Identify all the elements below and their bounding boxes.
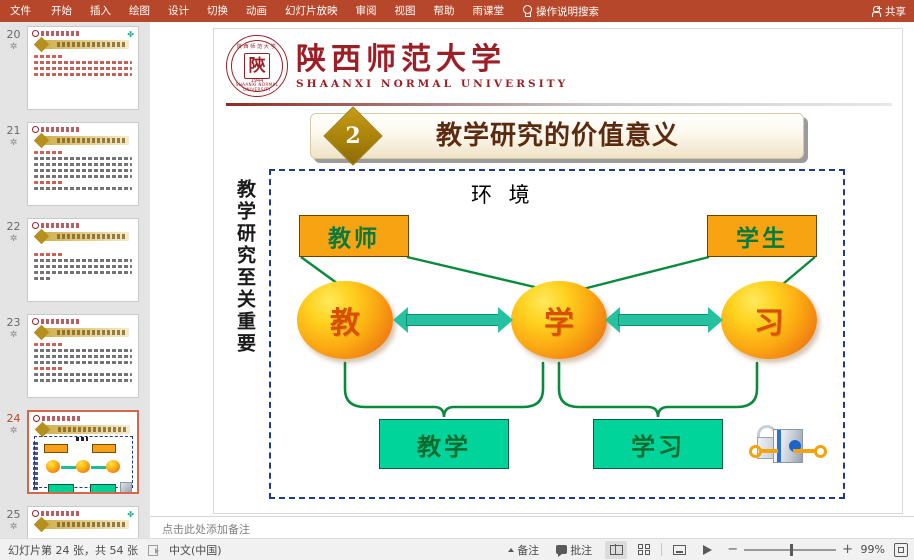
tab-transitions[interactable]: 切换 (198, 0, 237, 22)
star-icon: ✲ (10, 43, 18, 52)
environment-label: 环 境 (471, 179, 535, 209)
page-title: 教学研究的价值意义 (436, 113, 679, 159)
clover-icon: ✤ (127, 510, 134, 519)
tab-help[interactable]: 帮助 (425, 0, 464, 22)
clover-icon: ✤ (127, 30, 134, 39)
slide-counter[interactable]: 幻灯片第 24 张，共 54 张 (8, 542, 138, 558)
mini-university-name (42, 416, 80, 421)
seal-bottom-text: SHAANXI NORMAL UNIVERSITY (227, 82, 287, 92)
mini-body-text (34, 343, 132, 385)
mini-university-name (41, 511, 79, 516)
thumbnail-slide-23[interactable]: 23 ✲ (0, 314, 150, 406)
notes-button-label: 备注 (517, 542, 539, 558)
tab-review[interactable]: 审阅 (347, 0, 386, 22)
mini-university-name (41, 223, 79, 228)
star-icon: ✲ (10, 331, 18, 340)
powerpoint-window: 文件 开始 插入 绘图 设计 切换 动画 幻灯片放映 审阅 视图 帮助 雨课堂 … (0, 0, 914, 560)
thumbnail-meta: 25 ✲ (0, 506, 27, 538)
status-right-group: 备注 批注 − + 99% (504, 540, 914, 560)
star-icon: ✲ (10, 139, 18, 148)
xuexi-box[interactable]: 学习 (593, 419, 723, 469)
mini-environment-label (76, 437, 88, 441)
comment-icon (556, 545, 567, 554)
thumbnail-preview[interactable]: ✤ (27, 26, 139, 110)
slide-thumbnail-pane[interactable]: 20 ✲ ✤ (0, 22, 150, 538)
mini-vertical-caption (33, 442, 38, 494)
lock-and-key-icon (753, 421, 815, 469)
language-indicator[interactable]: 中文(中国) (169, 542, 222, 558)
mini-body-text (34, 55, 132, 79)
tell-me-search[interactable]: 操作说明搜索 (521, 4, 599, 19)
workspace: 20 ✲ ✤ (0, 22, 914, 538)
ribbon-tab-bar: 文件 开始 插入 绘图 设计 切换 动画 幻灯片放映 审阅 视图 帮助 雨课堂 … (0, 0, 914, 22)
sphere-jiao-label: 教 (330, 298, 360, 342)
university-names: 陕西师范大学 SHAANXI NORMAL UNIVERSITY (296, 43, 568, 90)
tab-design[interactable]: 设计 (159, 0, 198, 22)
tab-rain-classroom[interactable]: 雨课堂 (464, 0, 514, 22)
star-icon: ✲ (10, 427, 18, 436)
tab-insert[interactable]: 插入 (81, 0, 120, 22)
view-normal[interactable] (605, 541, 627, 559)
university-logo-header: 陕西师范大学 陝 1944 SHAANXI NORMAL UNIVERSITY … (226, 35, 568, 97)
star-icon: ✲ (10, 523, 18, 532)
seal-top-text: 陕西师范大学 (227, 43, 287, 50)
view-reading[interactable] (668, 541, 690, 559)
teaching-diagram[interactable]: 环 境 (269, 169, 845, 499)
tab-slideshow[interactable]: 幻灯片放映 (276, 0, 347, 22)
lightbulb-icon (521, 5, 532, 18)
mini-university-name (41, 127, 79, 132)
thumbnail-slide-20[interactable]: 20 ✲ ✤ (0, 26, 150, 118)
mini-xuexi-box (90, 484, 116, 494)
mini-university-logo (33, 415, 80, 422)
tell-me-label: 操作说明搜索 (536, 4, 599, 19)
mini-title-banner (41, 520, 129, 529)
thumbnail-slide-22[interactable]: 22 ✲ (0, 218, 150, 310)
university-seal-icon: 陕西师范大学 陝 1944 SHAANXI NORMAL UNIVERSITY (226, 35, 288, 97)
tab-view[interactable]: 视图 (386, 0, 425, 22)
thumbnail-number: 21 (7, 125, 21, 137)
tab-draw[interactable]: 绘图 (120, 0, 159, 22)
tab-home[interactable]: 开始 (42, 0, 81, 22)
thumbnail-preview[interactable] (27, 122, 139, 206)
comments-button-label: 批注 (570, 542, 592, 558)
mini-arrow-1 (61, 466, 76, 469)
view-slideshow[interactable] (696, 541, 718, 559)
thumbnail-meta: 21 ✲ (0, 122, 27, 214)
sphere-jiao[interactable]: 教 (297, 281, 393, 359)
thumbnail-slide-25[interactable]: 25 ✲ ✤ (0, 506, 150, 538)
sphere-xue[interactable]: 学 (511, 281, 607, 359)
mini-title-banner (41, 232, 129, 241)
thumbnail-slide-24[interactable]: 24 ✲ (0, 410, 150, 502)
mini-seal-icon (32, 30, 39, 37)
thumbnail-preview-selected[interactable] (27, 410, 139, 494)
slide-editor-pane: 陕西师范大学 陝 1944 SHAANXI NORMAL UNIVERSITY … (150, 22, 914, 538)
header-divider-rule (226, 103, 892, 106)
zoom-slider[interactable] (744, 549, 836, 551)
double-arrow-jiao-xue (393, 307, 513, 333)
share-label: 共享 (885, 4, 906, 19)
notes-placeholder: 点击此处添加备注 (162, 521, 250, 537)
mini-lock-icon (120, 482, 132, 493)
mini-seal-icon (32, 318, 39, 325)
seal-character: 陝 (244, 53, 270, 79)
zoom-level[interactable]: 99% (859, 543, 885, 556)
thumbnail-number: 24 (7, 413, 21, 425)
zoom-control[interactable]: − + 99% (727, 543, 885, 556)
thumbnail-number: 22 (7, 221, 21, 233)
vertical-caption: 教学研究至关重要 (226, 179, 260, 355)
view-slide-sorter[interactable] (633, 541, 655, 559)
ribbon-tabs: 文件 开始 插入 绘图 设计 切换 动画 幻灯片放映 审阅 视图 帮助 雨课堂 (0, 0, 513, 22)
mini-university-logo (32, 126, 79, 133)
mini-body-text (34, 253, 132, 283)
mini-body-text (34, 151, 132, 193)
thumbnail-preview[interactable]: ✤ (27, 506, 139, 538)
zoom-slider-thumb[interactable] (790, 544, 793, 556)
sphere-xue-label: 学 (544, 298, 574, 342)
university-name-cn: 陕西师范大学 (296, 43, 568, 77)
notes-button[interactable]: 备注 (504, 540, 543, 560)
thumbnail-number: 25 (7, 509, 21, 521)
share-button[interactable]: 共享 (871, 0, 906, 22)
thumbnail-preview[interactable] (27, 314, 139, 398)
mini-sphere-xue (76, 460, 90, 473)
mini-sphere-xi (106, 460, 120, 473)
student-box[interactable]: 学生 (707, 215, 817, 257)
mini-seal-icon (32, 126, 39, 133)
comments-button[interactable]: 批注 (552, 540, 596, 560)
tab-animations[interactable]: 动画 (237, 0, 276, 22)
status-separator (661, 543, 662, 556)
mini-title-banner (41, 40, 129, 49)
mini-title-banner (41, 136, 129, 145)
fit-slide-to-window-icon[interactable] (894, 543, 908, 557)
mini-title-banner (42, 425, 130, 434)
mini-diagram (34, 436, 133, 488)
thumbnail-preview[interactable] (27, 218, 139, 302)
zoom-in-button[interactable]: + (842, 544, 853, 555)
sphere-xi-label: 习 (754, 298, 784, 342)
view-mode-buttons (605, 541, 718, 559)
star-icon: ✲ (10, 235, 18, 244)
mini-seal-icon (33, 415, 40, 422)
sphere-xi[interactable]: 习 (721, 281, 817, 359)
mini-arrow-2 (91, 466, 106, 469)
caret-up-icon (508, 548, 514, 552)
mini-university-logo (32, 222, 79, 229)
thumbnail-meta: 20 ✲ (0, 26, 27, 118)
mini-university-logo (32, 30, 79, 37)
tab-file[interactable]: 文件 (0, 0, 42, 22)
mini-title-banner (41, 328, 129, 337)
teacher-box[interactable]: 教师 (299, 215, 409, 257)
accessibility-check-icon[interactable] (148, 544, 159, 555)
person-add-icon (871, 5, 882, 17)
section-number: 2 (332, 115, 374, 157)
zoom-out-button[interactable]: − (727, 544, 738, 555)
jiaoxue-box[interactable]: 教学 (379, 419, 509, 469)
status-left-group: 幻灯片第 24 张，共 54 张 中文(中国) (0, 542, 222, 558)
thumbnail-number: 23 (7, 317, 21, 329)
mini-university-logo (32, 318, 79, 325)
mini-university-name (41, 319, 79, 324)
double-arrow-xue-xi (605, 307, 723, 333)
slide-title-banner[interactable]: 2 教学研究的价值意义 (310, 113, 804, 161)
mini-university-name (41, 31, 79, 36)
mini-student-box (92, 444, 116, 453)
mini-seal-icon (32, 510, 39, 517)
mini-teacher-box (44, 444, 68, 453)
mini-jiaoxue-box (48, 484, 74, 494)
mini-sphere-jiao (46, 460, 60, 473)
thumbnail-meta: 23 ✲ (0, 314, 27, 406)
current-slide-canvas[interactable]: 陕西师范大学 陝 1944 SHAANXI NORMAL UNIVERSITY … (213, 28, 903, 514)
mini-seal-icon (32, 222, 39, 229)
notes-pane[interactable]: 点击此处添加备注 (150, 516, 914, 538)
university-name-en: SHAANXI NORMAL UNIVERSITY (296, 78, 568, 90)
mini-university-logo (32, 510, 79, 517)
thumbnail-number: 20 (7, 29, 21, 41)
status-bar: 幻灯片第 24 张，共 54 张 中文(中国) 备注 批注 (0, 538, 914, 560)
thumbnail-slide-21[interactable]: 21 ✲ (0, 122, 150, 214)
thumbnail-meta: 24 ✲ (0, 410, 27, 502)
thumbnail-meta: 22 ✲ (0, 218, 27, 310)
